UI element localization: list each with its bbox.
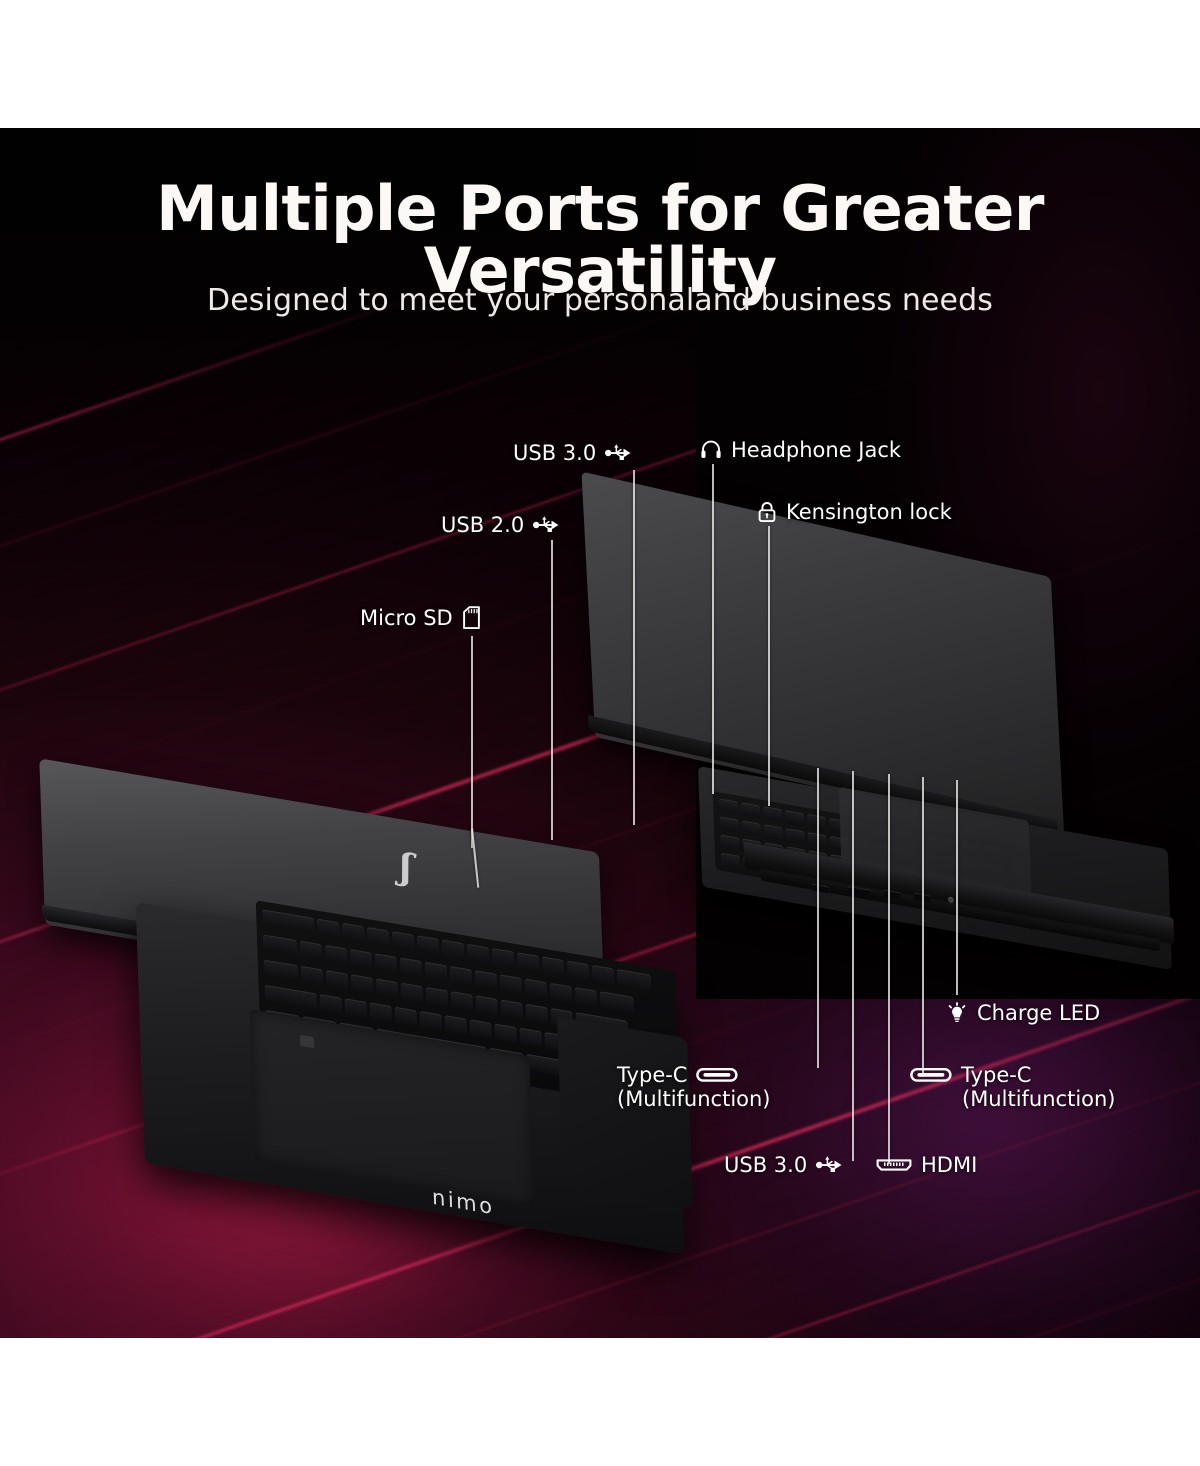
keyboard-key [265,985,318,1010]
keyboard-key [451,991,474,1011]
callout-label: HDMI [921,1153,977,1177]
keyboard-key [392,931,415,951]
keyboard-key [417,935,440,955]
keyboard-key [517,952,540,972]
page-subtitle: Designed to meet your personaland busine… [0,283,1200,318]
keyboard-key [741,802,760,818]
keyboard-key [325,945,348,965]
keyboard-key [567,961,590,981]
callout-label: Type-C [617,1063,687,1087]
keyboard-key [467,944,490,964]
keyboard-key [764,824,783,840]
callout-sublabel: (Multifunction) [962,1087,1116,1111]
callout-headphone-jack: Headphone Jack [700,438,901,462]
leader-line-typec-right [922,777,924,1077]
keyboard-key [494,1023,517,1043]
headphone-icon [700,440,722,460]
keyboard-key [742,820,761,836]
callout-label: Kensington lock [786,500,952,524]
keyboard-key [342,923,365,943]
keyboard-key [526,1054,561,1076]
keyboard-key [326,970,349,990]
keyboard-key [720,834,739,850]
callout-label: Type-C [961,1063,1031,1087]
keyboard-key [617,969,652,991]
callout-label: USB 3.0 [513,441,596,465]
callout-label: USB 3.0 [724,1153,807,1177]
callout-kensington-lock: Kensington lock [757,500,952,524]
leader-line-usb20 [551,540,553,840]
front-laptop-logo: ʃ [399,845,412,889]
keyboard-key [763,806,782,822]
keyboard-key [592,965,615,985]
keyboard-key [367,927,390,947]
trackpad-indicator [300,1035,314,1048]
callout-usb20: USB 2.0 [441,513,559,537]
callout-usb30-bottom: USB 3.0 [724,1153,842,1177]
keyboard-key [575,987,598,1007]
keyboard-key [786,828,805,844]
product-feature-image: Multiple Ports for Greater Versatility D… [0,0,1200,1466]
keyboard-key [425,962,448,982]
keyboard-key [375,953,398,973]
lock-icon [757,501,777,523]
leader-line-typec-left [817,768,819,1068]
keyboard-key [419,1011,442,1031]
keyboard-key [370,1002,393,1022]
callout-label: Charge LED [977,1001,1100,1025]
callout-usb30-top: USB 3.0 [513,441,631,465]
keyboard-key [492,948,515,968]
callout-hdmi: HDMI [876,1153,977,1177]
keyboard-key [475,970,498,990]
keyboard-key [262,909,315,934]
callout-typec-right: Type-C (Multifunction) [910,1063,1116,1111]
keyboard-key [526,1004,549,1024]
frame-bottom-margin [0,1338,1200,1466]
callout-label: Micro SD [360,606,453,630]
keyboard-key [426,987,449,1007]
keyboard-key [394,1007,417,1027]
keyboard-key [350,949,373,969]
leader-line-kensington [768,526,770,806]
indicator-charge-led [948,896,954,903]
keyboard-key [345,998,368,1018]
keyboard-key [401,983,424,1003]
keyboard-key [450,966,473,986]
keyboard-key [542,956,565,976]
callout-sublabel: (Multifunction) [617,1087,771,1111]
keyboard-key [476,995,499,1015]
callout-charge-led: Charge LED [946,1001,1100,1025]
lightbulb-icon [946,1002,968,1024]
keyboard-key [600,991,635,1013]
keyboard-key [550,983,573,1003]
keyboard-key [785,810,804,826]
keyboard-key [376,978,399,998]
usb-c-port-icon [910,1065,952,1085]
hero-panel: Multiple Ports for Greater Versatility D… [0,128,1200,1338]
keyboard-key [500,974,523,994]
usb-c-port-icon [696,1065,738,1085]
leader-line-usb30-top [633,470,635,825]
sd-card-icon [462,606,481,630]
keyboard-key [317,919,340,939]
keyboard-key [320,994,343,1014]
keyboard-key [264,960,299,982]
usb-icon [533,515,559,535]
callout-label: USB 2.0 [441,513,524,537]
keyboard-key [444,1015,467,1035]
leader-line-usb30-bottom [852,771,854,1161]
keyboard-key [301,966,324,986]
keyboard-key [720,816,739,832]
callout-typec-left: Type-C (Multifunction) [617,1063,771,1111]
usb-icon [816,1155,842,1175]
keyboard-key [525,979,548,999]
callout-label: Headphone Jack [731,438,901,462]
frame-top-margin [0,0,1200,128]
callout-micro-sd: Micro SD [360,606,481,630]
keyboard-key [721,853,740,869]
keyboard-key [351,974,374,994]
keyboard-key [442,940,465,960]
keyboard-key [501,999,524,1019]
front-laptop-right-edge [557,1017,693,1210]
leader-line-microsd [471,636,473,848]
keyboard-key [300,941,323,961]
leader-line-hdmi [888,774,890,1164]
leader-line-charge-led [956,780,958,995]
keyboard-key [400,957,423,977]
keyboard-key [519,1028,542,1048]
hdmi-port-icon [876,1156,912,1174]
light-streak [70,1261,1200,1338]
keyboard-key [469,1019,492,1039]
keyboard-key [263,934,298,956]
leader-line-headphone [712,464,714,794]
keyboard-key [719,798,738,814]
usb-icon [605,443,631,463]
